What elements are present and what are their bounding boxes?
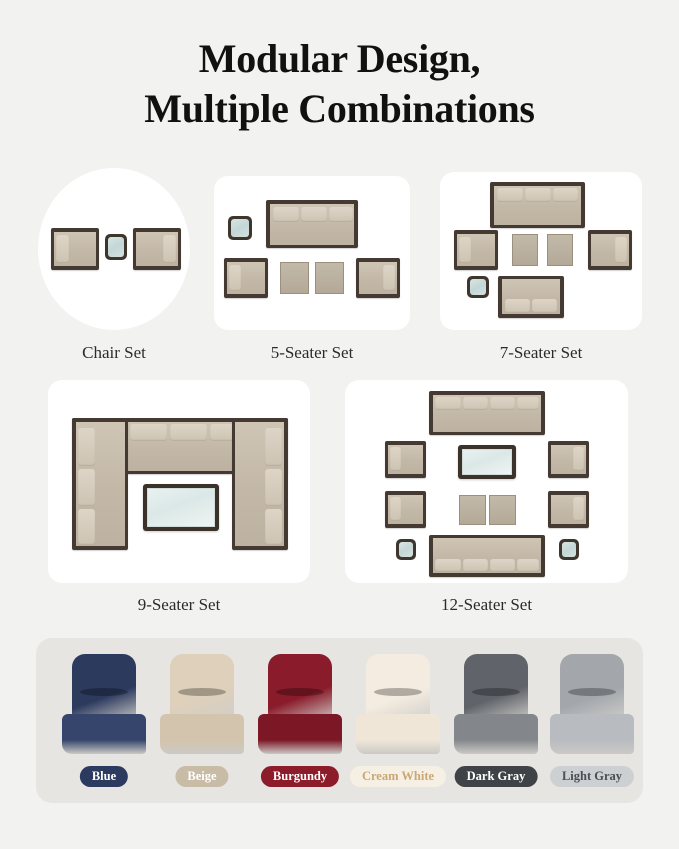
- sectional-left-run: [72, 418, 128, 550]
- glass-coffee-table: [458, 445, 516, 479]
- color-badge-label: Burgundy: [261, 766, 339, 787]
- cushion-preview: [156, 654, 248, 762]
- cushion-preview: [254, 654, 346, 762]
- four-seat-sofa: [429, 535, 545, 577]
- ottoman: [512, 234, 538, 266]
- set-card-5-seater-set[interactable]: [214, 176, 410, 330]
- color-badge-label: Cream White: [350, 766, 446, 787]
- cushion-preview: [58, 654, 150, 762]
- glass-side-table: [559, 539, 579, 560]
- cushion-preview: [450, 654, 542, 762]
- color-options-panel: Blue Beige Burgundy Cream White: [36, 638, 643, 803]
- armchair: [385, 441, 426, 478]
- color-badge-label: Blue: [80, 766, 128, 787]
- title-line-2: Multiple Combinations: [0, 84, 679, 134]
- layout-diagram-chair-set: [38, 168, 190, 330]
- sectional-right-run: [232, 418, 288, 550]
- color-badge-label: Beige: [175, 766, 228, 787]
- loveseat: [498, 276, 564, 318]
- layout-diagram-7-seater-set: [440, 172, 642, 330]
- color-swatch-burgundy[interactable]: Burgundy: [254, 654, 346, 799]
- color-badge-label: Light Gray: [550, 766, 634, 787]
- layout-diagram-9-seater-set: [48, 380, 310, 583]
- glass-side-table: [467, 276, 489, 298]
- glass-side-table: [396, 539, 416, 560]
- layout-diagram-12-seater-set: [345, 380, 628, 583]
- ottoman: [547, 234, 573, 266]
- set-card-9-seater-set[interactable]: [48, 380, 310, 583]
- color-swatch-beige[interactable]: Beige: [156, 654, 248, 799]
- set-label-7-seater-set: 7-Seater Set: [440, 343, 642, 363]
- armchair: [51, 228, 99, 270]
- glass-coffee-table: [143, 484, 219, 531]
- set-card-7-seater-set[interactable]: [440, 172, 642, 330]
- color-badge-label: Dark Gray: [455, 766, 538, 787]
- ottoman: [489, 495, 516, 525]
- ottoman: [459, 495, 486, 525]
- four-seat-sofa: [429, 391, 545, 435]
- ottoman: [280, 262, 309, 294]
- layout-diagram-5-seater-set: [214, 176, 410, 330]
- three-seat-sofa: [266, 200, 358, 248]
- ottoman: [315, 262, 344, 294]
- armchair: [356, 258, 400, 298]
- set-card-12-seater-set[interactable]: [345, 380, 628, 583]
- armchair: [588, 230, 632, 270]
- armchair: [133, 228, 181, 270]
- color-swatch-dark-gray[interactable]: Dark Gray: [450, 654, 542, 799]
- armchair: [385, 491, 426, 528]
- set-card-chair-set[interactable]: [38, 168, 190, 330]
- armchair: [548, 491, 589, 528]
- color-swatch-cream-white[interactable]: Cream White: [352, 654, 444, 799]
- cushion-preview: [352, 654, 444, 762]
- cushion-preview: [546, 654, 638, 762]
- set-label-12-seater-set: 12-Seater Set: [345, 595, 628, 615]
- armchair: [454, 230, 498, 270]
- glass-side-table: [105, 234, 127, 260]
- color-swatch-blue[interactable]: Blue: [58, 654, 150, 799]
- armchair: [224, 258, 268, 298]
- title-line-1: Modular Design,: [0, 34, 679, 84]
- set-label-5-seater-set: 5-Seater Set: [214, 343, 410, 363]
- set-label-chair-set: Chair Set: [38, 343, 190, 363]
- glass-side-table: [228, 216, 252, 240]
- color-swatch-light-gray[interactable]: Light Gray: [546, 654, 638, 799]
- armchair: [548, 441, 589, 478]
- three-seat-sofa: [490, 182, 585, 228]
- set-label-9-seater-set: 9-Seater Set: [48, 595, 310, 615]
- page-title: Modular Design, Multiple Combinations: [0, 34, 679, 134]
